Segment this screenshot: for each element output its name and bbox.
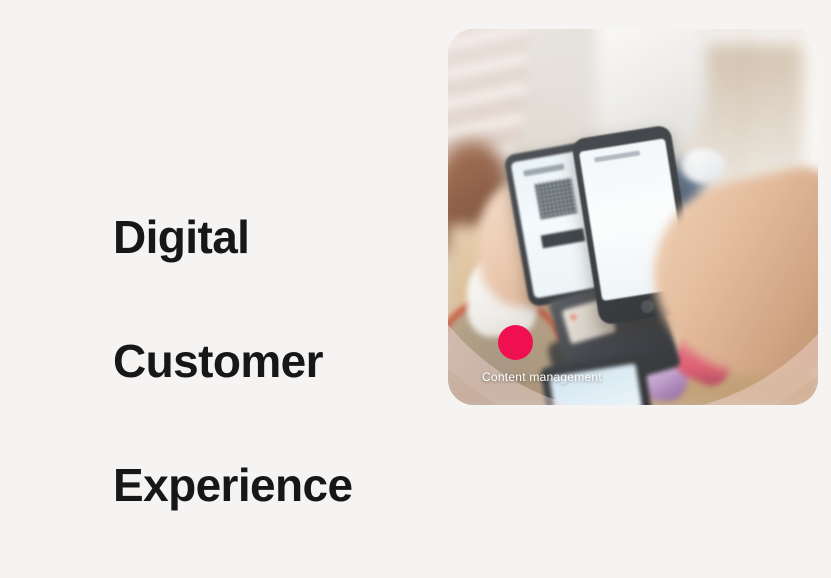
media-card[interactable]: Content management — [448, 29, 818, 405]
photo-phone-qr-header-bar — [523, 164, 565, 177]
photo-phone-home-button — [640, 299, 655, 314]
photo-card-chip — [570, 313, 577, 319]
page-title: Digital Customer Experience — [113, 144, 413, 578]
marker-dot[interactable] — [498, 325, 533, 360]
photo-phone-blank-header-bar — [594, 150, 639, 162]
headline-line-2: Customer — [113, 330, 413, 392]
qr-code-icon — [535, 178, 577, 219]
photo-phone-qr-dots — [541, 229, 585, 249]
headline-line-1: Digital — [113, 206, 413, 268]
media-caption: Content management — [482, 370, 602, 384]
headline-line-3: Experience — [113, 454, 413, 516]
slide-canvas: Digital Customer Experience — [0, 0, 831, 434]
